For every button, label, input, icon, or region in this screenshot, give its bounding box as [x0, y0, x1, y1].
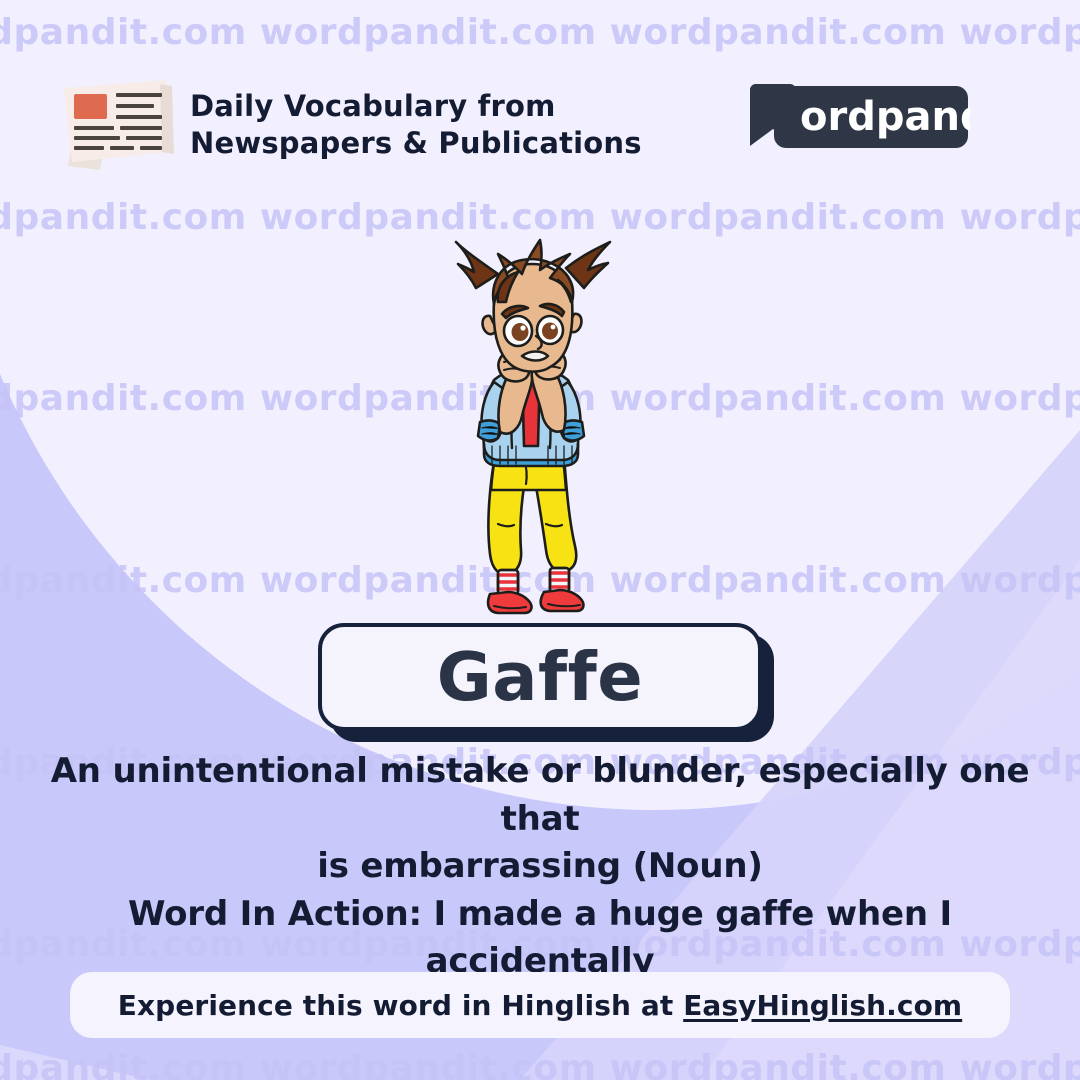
- page-title-line1: Daily Vocabulary from: [190, 88, 642, 125]
- footer-banner[interactable]: Experience this word in Hinglish at Easy…: [70, 972, 1010, 1038]
- wordpandit-logo[interactable]: ordpandit: [748, 82, 970, 152]
- word-badge: Gaffe: [318, 623, 762, 731]
- logo-text: ordpandit: [800, 94, 970, 140]
- word-label: Gaffe: [437, 638, 643, 716]
- card-header: Daily Vocabulary from Newspapers & Publi…: [0, 0, 1080, 190]
- footer-prefix: Experience this word in Hinglish at: [118, 989, 683, 1022]
- footer-text: Experience this word in Hinglish at Easy…: [118, 989, 962, 1022]
- newspaper-icon: [58, 70, 180, 174]
- page-title: Daily Vocabulary from Newspapers & Publi…: [190, 88, 642, 162]
- page-title-line2: Newspapers & Publications: [190, 125, 642, 162]
- nervous-boy-illustration: [438, 232, 628, 622]
- definition-line-2: is embarrassing (Noun): [40, 843, 1040, 891]
- vocabulary-card: wordpandit.com wordpandit.com wordpandit…: [0, 0, 1080, 1080]
- easyhinglish-link[interactable]: EasyHinglish.com: [683, 989, 962, 1022]
- definition-line-1: An unintentional mistake or blunder, esp…: [40, 748, 1040, 843]
